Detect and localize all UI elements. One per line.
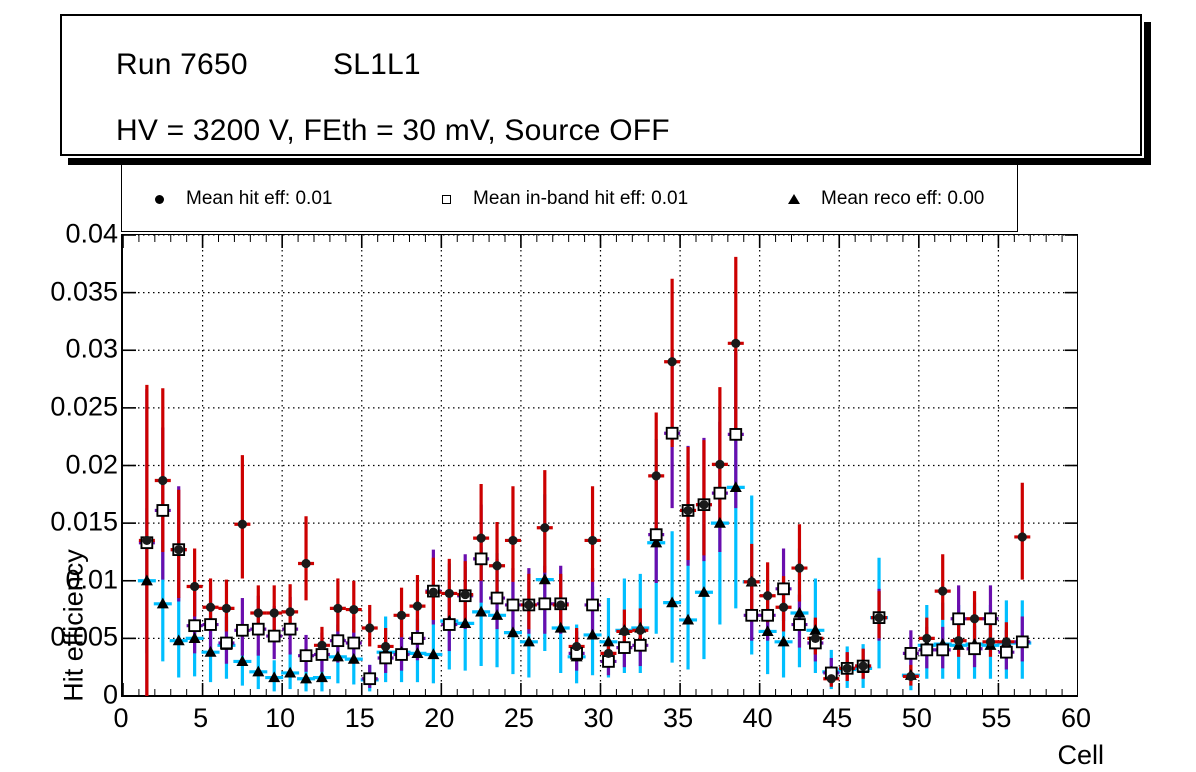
y-tick-label: 0.02	[65, 449, 118, 480]
x-tick-label: 0	[113, 703, 128, 734]
x-tick-label: 25	[504, 703, 534, 734]
x-axis-tick-labels: 051015202530354045505560	[0, 703, 1196, 743]
x-tick-label: 55	[981, 703, 1011, 734]
x-tick-label: 10	[265, 703, 295, 734]
x-tick-label: 20	[424, 703, 454, 734]
y-tick-label: 0.04	[65, 219, 118, 250]
plot-data-area	[123, 235, 1078, 696]
y-tick-label: 0.025	[50, 391, 118, 422]
filled-circle-icon	[132, 195, 186, 204]
grid-lines	[123, 235, 1078, 696]
x-tick-label: 35	[663, 703, 693, 734]
title-line-run: Run 7650 SL1L1	[116, 48, 421, 82]
plot-canvas: Run 7650 SL1L1 HV = 3200 V, FEth = 30 mV…	[0, 0, 1196, 772]
legend-entry-inband-hit-eff[interactable]: Mean in-band hit eff: 0.01	[419, 165, 688, 233]
filled-triangle-icon	[767, 194, 821, 204]
title-box-shadow-right	[1144, 22, 1151, 165]
title-box: Run 7650 SL1L1 HV = 3200 V, FEth = 30 mV…	[60, 14, 1142, 156]
open-square-icon	[419, 195, 473, 204]
x-tick-label: 5	[193, 703, 208, 734]
legend-label-reco-eff: Mean reco eff: 0.00	[821, 188, 984, 210]
y-axis-title: Hit efficiency	[59, 506, 90, 746]
legend-entry-reco-eff[interactable]: Mean reco eff: 0.00	[767, 165, 984, 233]
x-tick-label: 50	[902, 703, 932, 734]
y-tick-label: 0.03	[65, 334, 118, 365]
plot-frame	[121, 234, 1078, 697]
legend-label-hit-eff: Mean hit eff: 0.01	[186, 188, 332, 210]
title-line-conditions: HV = 3200 V, FEth = 30 mV, Source OFF	[116, 114, 670, 148]
legend-entry-hit-eff[interactable]: Mean hit eff: 0.01	[132, 165, 332, 233]
x-tick-label: 45	[822, 703, 852, 734]
legend-label-inband-hit-eff: Mean in-band hit eff: 0.01	[473, 188, 688, 210]
x-tick-label: 40	[743, 703, 773, 734]
x-tick-label: 30	[583, 703, 613, 734]
x-axis-title: Cell	[1057, 740, 1104, 771]
x-tick-label: 60	[1061, 703, 1091, 734]
series-errorbars-open-square	[139, 351, 1030, 696]
legend-box: Mean hit eff: 0.01 Mean in-band hit eff:…	[121, 164, 1018, 232]
y-tick-label: 0.035	[50, 276, 118, 307]
x-tick-label: 15	[345, 703, 375, 734]
